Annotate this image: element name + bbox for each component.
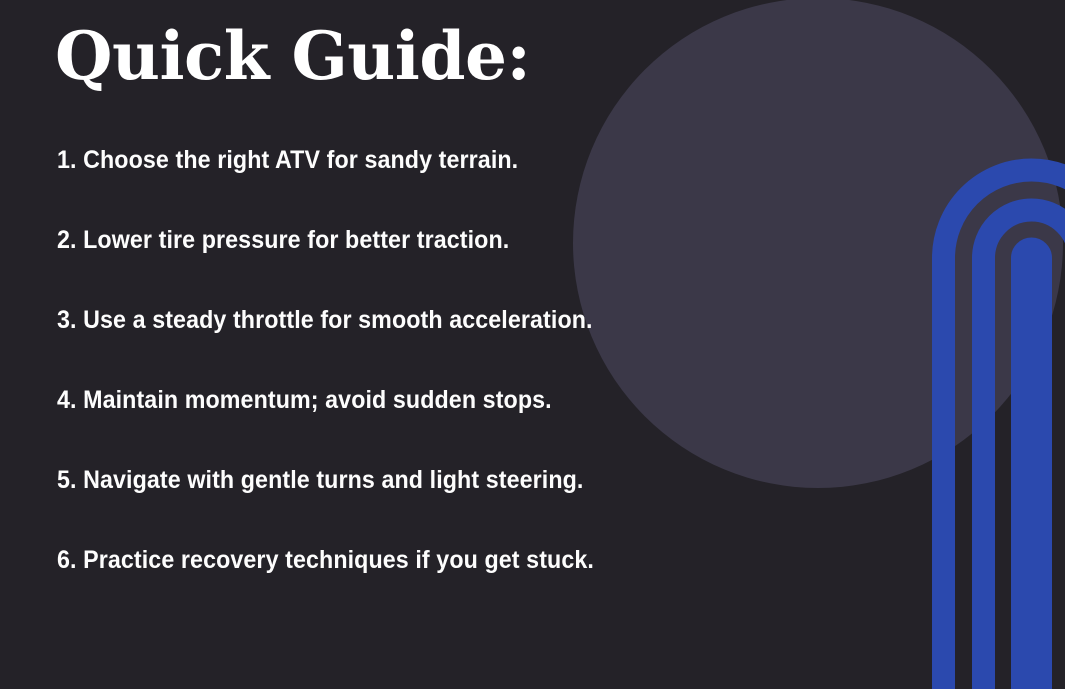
steps-list: 1. Choose the right ATV for sandy terrai… bbox=[57, 148, 757, 628]
step-text: 1. Choose the right ATV for sandy terrai… bbox=[57, 148, 518, 173]
step-text: 4. Maintain momentum; avoid sudden stops… bbox=[57, 388, 552, 413]
list-item: 4. Maintain momentum; avoid sudden stops… bbox=[57, 388, 708, 468]
step-text: 5. Navigate with gentle turns and light … bbox=[57, 468, 583, 493]
step-text: 6. Practice recovery techniques if you g… bbox=[57, 548, 594, 573]
list-item: 3. Use a steady throttle for smooth acce… bbox=[57, 308, 708, 388]
list-item: 1. Choose the right ATV for sandy terrai… bbox=[57, 148, 708, 228]
page-title: Quick Guide: bbox=[55, 22, 530, 92]
list-item: 2. Lower tire pressure for better tracti… bbox=[57, 228, 708, 308]
list-item: 6. Practice recovery techniques if you g… bbox=[57, 548, 708, 628]
step-text: 2. Lower tire pressure for better tracti… bbox=[57, 228, 509, 253]
step-text: 3. Use a steady throttle for smooth acce… bbox=[57, 308, 593, 333]
list-item: 5. Navigate with gentle turns and light … bbox=[57, 468, 708, 548]
slide-content: Quick Guide: 1. Choose the right ATV for… bbox=[0, 0, 1065, 689]
slide-canvas: Quick Guide: 1. Choose the right ATV for… bbox=[0, 0, 1065, 689]
